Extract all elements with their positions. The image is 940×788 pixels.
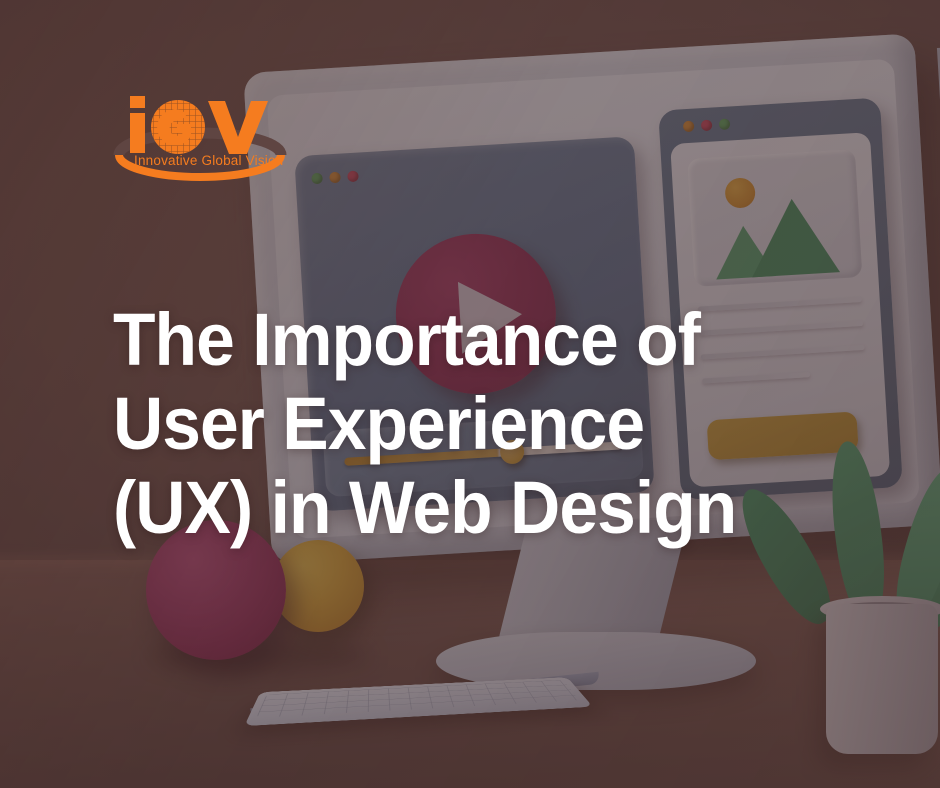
headline-line-3: (UX) in Web Design	[113, 466, 856, 550]
headline-line-1: The Importance of	[113, 298, 856, 382]
logo-tagline: Innovative Global Vision	[134, 153, 283, 168]
blog-banner: Innovative Global Vision The Importance …	[0, 0, 940, 788]
headline-line-2: User Experience	[113, 382, 856, 466]
igv-logo: Innovative Global Vision	[112, 92, 287, 188]
page-title: The Importance of User Experience (UX) i…	[113, 298, 856, 550]
